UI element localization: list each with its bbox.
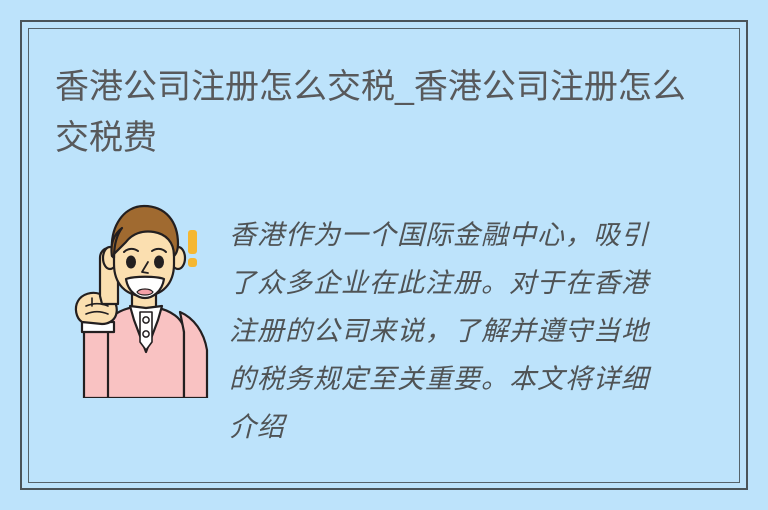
button-bottom	[143, 331, 149, 337]
right-eye	[154, 256, 164, 269]
tongue	[137, 289, 153, 295]
exclamation-icon	[188, 230, 197, 267]
right-sleeve	[180, 312, 207, 398]
page-title: 香港公司注册怎么交税_香港公司注册怎么交税费	[55, 62, 695, 164]
article-body: 香港作为一个国际金融中心，吸引了众多企业在此注册。对于在香港注册的公司来说，了解…	[229, 212, 659, 452]
button-top	[143, 317, 149, 323]
article-card: 香港公司注册怎么交税_香港公司注册怎么交税费	[0, 0, 768, 510]
left-eye	[126, 256, 136, 269]
pointing-man-illustration	[62, 200, 214, 398]
